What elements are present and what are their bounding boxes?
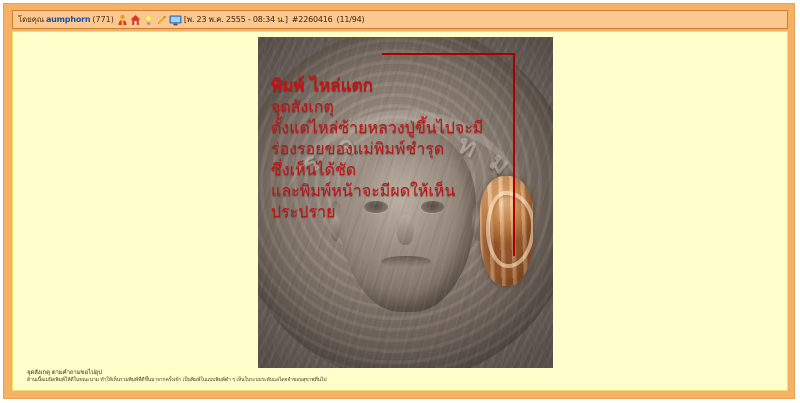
annotation-title: พิมพ์ ไหล่แตก: [271, 76, 521, 96]
post-id: #2260416: [292, 15, 333, 25]
home-icon[interactable]: [130, 14, 141, 26]
annotation-line-6: ประปราย: [271, 201, 521, 222]
post-author-label: โดยคุณ: [18, 15, 44, 25]
idea-lightbulb-icon[interactable]: [143, 14, 154, 26]
post-header-icon-group: [117, 14, 180, 26]
callout-leader-horizontal: [382, 53, 515, 55]
user-profile-icon[interactable]: [117, 14, 128, 26]
footer-line-1: จุดสังเกตุ ตามคำถามขอไปอุป: [27, 369, 627, 377]
post-author-username[interactable]: aumphorn: [46, 15, 90, 25]
post-timestamp: [พ. 23 พ.ค. 2555 - 08:34 น.]: [184, 15, 288, 25]
annotation-line-4: ซึ่งเห็นได้ชัด: [271, 159, 521, 180]
footer-disclaimer: จุดสังเกตุ ตามคำถามขอไปอุป ด้านเนื้อเมนิ…: [27, 369, 627, 384]
edit-pencil-icon[interactable]: [156, 14, 167, 26]
page-frame: โดยคุณ aumphorn (771): [3, 3, 795, 399]
footer-line-2: ด้านเนื้อเมนิดพิมพ์ให้ดีในขณะนาม ทำให้เห…: [27, 377, 627, 384]
annotation-line-5: และพิมพ์หน้าจะมีผดให้เห็น: [271, 180, 521, 201]
post-page-position: (11/94): [337, 15, 365, 25]
monitor-screen-icon[interactable]: [169, 14, 180, 26]
annotation-text-block: พิมพ์ ไหล่แตก จุดสังเกตุ ตั้งแต่ไหล่ซ้าย…: [271, 76, 521, 222]
post-author-postcount: (771): [92, 15, 114, 25]
annotation-line-3: ร่องรอยของแม่พิมพ์ชำรุด: [271, 138, 521, 159]
annotation-line-1: จุดสังเกตุ: [271, 96, 521, 117]
annotation-line-2: ตั้งแต่ไหล่ซ้ายหลวงปู่ขึ้นไปจะมี: [271, 117, 521, 138]
post-header-bar: โดยคุณ aumphorn (771): [12, 10, 788, 29]
post-content-panel: ร จ ก ง ท ม: [12, 31, 788, 391]
